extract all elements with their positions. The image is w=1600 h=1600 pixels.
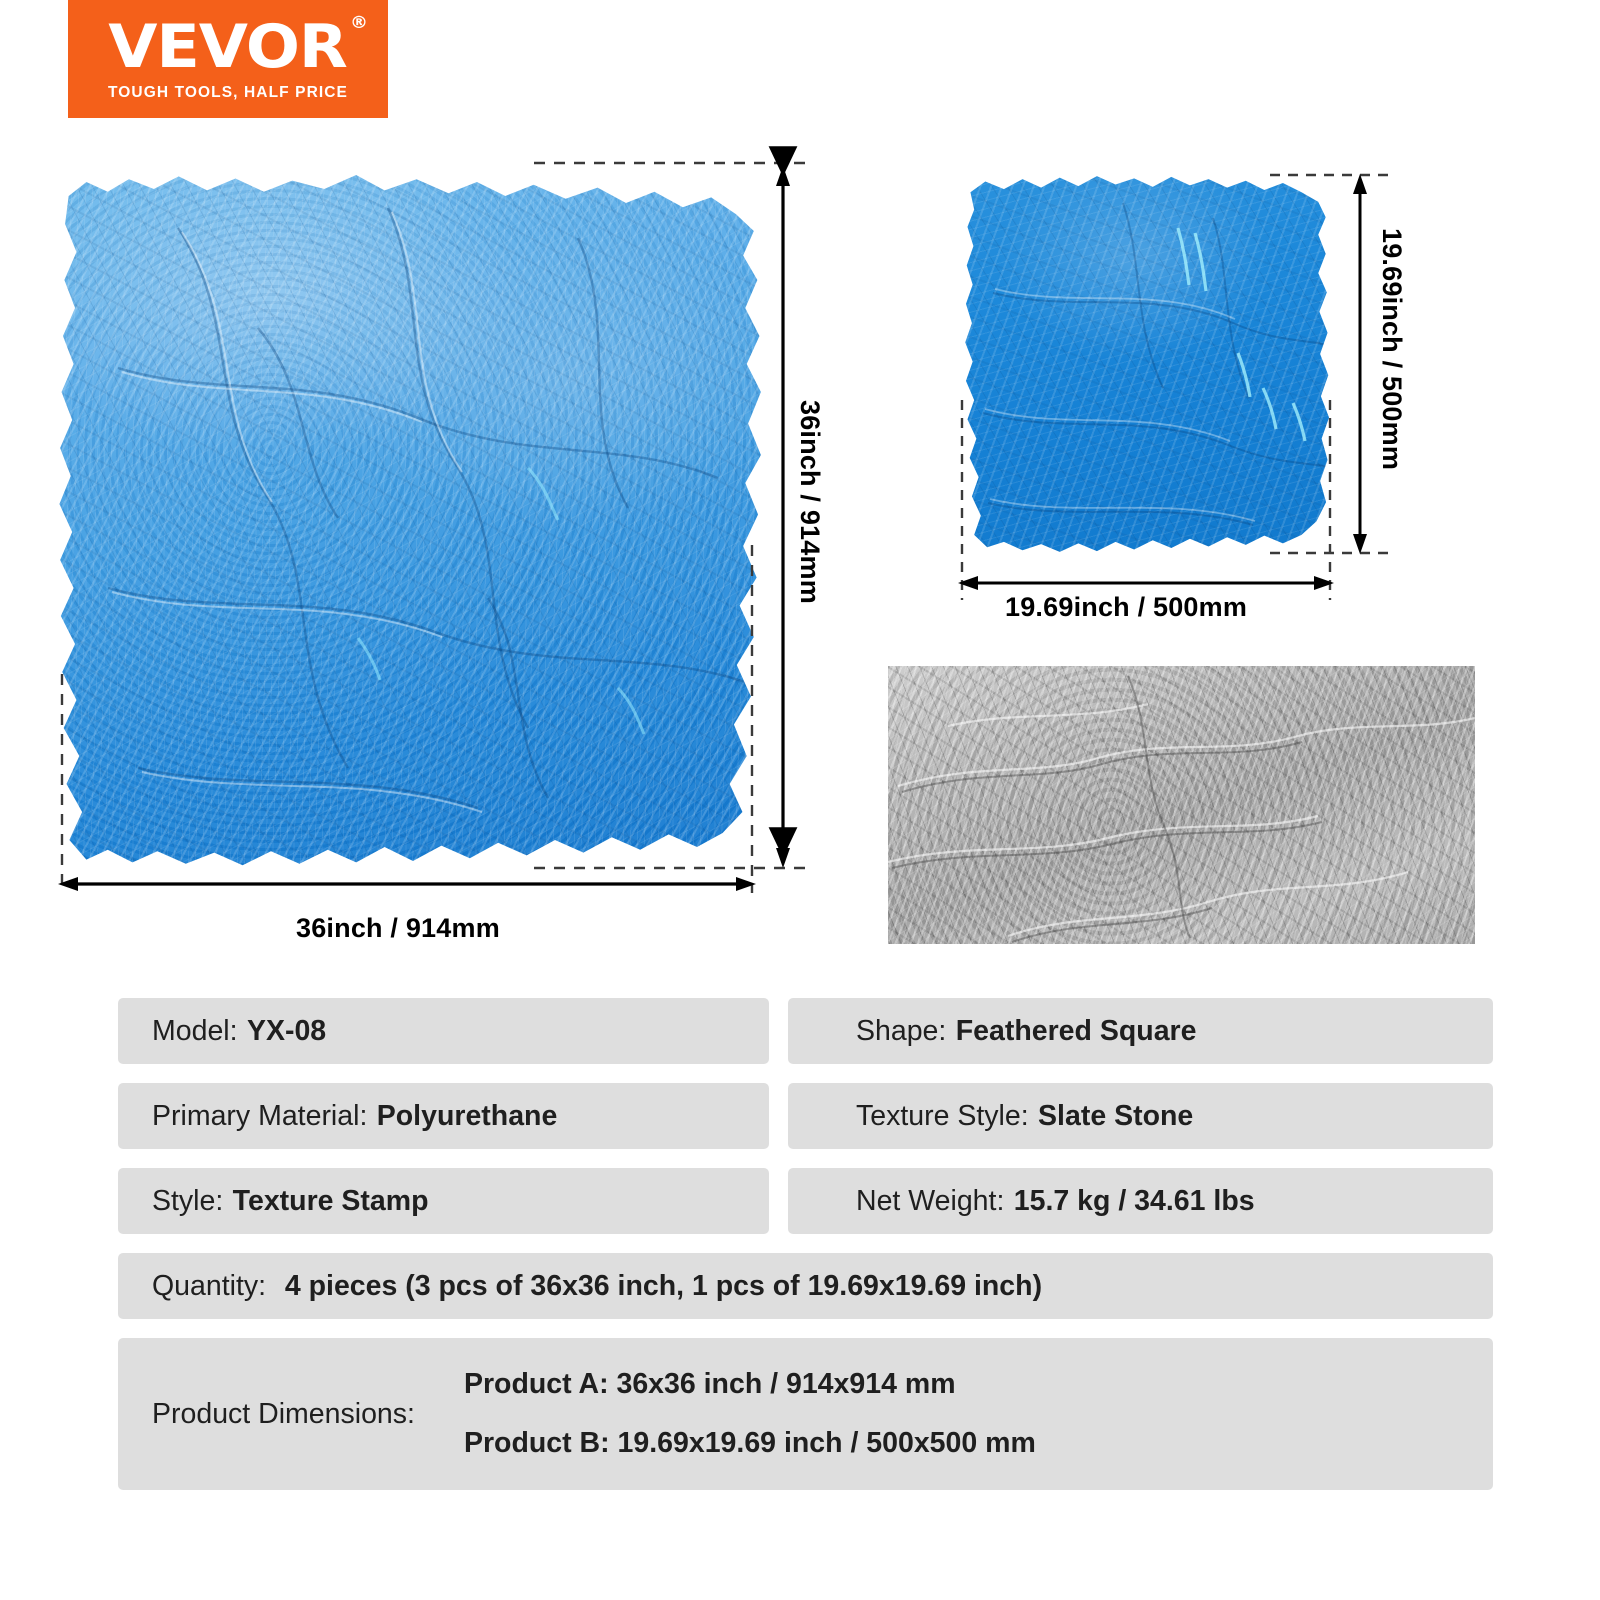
- spec-value: Slate Stone: [1038, 1100, 1193, 1133]
- product-b-dimension: Product B: 19.69x19.69 inch / 500x500 mm: [464, 1427, 1036, 1460]
- product-spec-sheet: VEVOR® TOUGH TOOLS, HALF PRICE: [0, 0, 1600, 1600]
- spec-row: Product Dimensions: Product A: 36x36 inc…: [118, 1338, 1493, 1490]
- dim-a-horizontal-arrowheads: [58, 877, 756, 891]
- product-a-image: [58, 168, 768, 868]
- spec-cell-quantity: Quantity: 4 pieces (3 pcs of 36x36 inch,…: [118, 1253, 1493, 1319]
- specifications-table: Model: YX-08 Shape: Feathered Square Pri…: [118, 998, 1493, 1509]
- spec-value: Feathered Square: [956, 1015, 1197, 1048]
- spec-row: Quantity: 4 pieces (3 pcs of 36x36 inch,…: [118, 1253, 1493, 1319]
- spec-value: YX-08: [247, 1015, 326, 1048]
- dim-a-height-label: 36inch / 914mm: [794, 400, 825, 604]
- spec-label: Style:: [152, 1185, 223, 1218]
- spec-label: Model:: [152, 1015, 238, 1048]
- spec-label: Product Dimensions:: [152, 1398, 415, 1431]
- spec-row: Primary Material: Polyurethane Texture S…: [118, 1083, 1493, 1149]
- spec-label: Primary Material:: [152, 1100, 367, 1133]
- spec-cell-net-weight: Net Weight: 15.7 kg / 34.61 lbs: [788, 1168, 1493, 1234]
- dim-b-height-label: 19.69inch / 500mm: [1376, 228, 1407, 470]
- spec-label: Net Weight:: [856, 1185, 1004, 1218]
- dim-b-vertical-arrowheads: [1353, 174, 1367, 554]
- spec-cell-style: Style: Texture Stamp: [118, 1168, 769, 1234]
- spec-value: Texture Stamp: [233, 1185, 429, 1218]
- spec-cell-product-dimensions: Product Dimensions: Product A: 36x36 inc…: [118, 1338, 1493, 1490]
- spec-cell-primary-material: Primary Material: Polyurethane: [118, 1083, 769, 1149]
- dim-a-width-label: 36inch / 914mm: [296, 913, 500, 944]
- dim-b-horizontal-arrowheads: [958, 576, 1334, 590]
- spec-value: Polyurethane: [377, 1100, 558, 1133]
- spec-label: Quantity:: [152, 1270, 266, 1303]
- spec-row: Style: Texture Stamp Net Weight: 15.7 kg…: [118, 1168, 1493, 1234]
- spec-cell-shape: Shape: Feathered Square: [788, 998, 1493, 1064]
- brand-tagline: TOUGH TOOLS, HALF PRICE: [108, 84, 348, 102]
- spec-row: Model: YX-08 Shape: Feathered Square: [118, 998, 1493, 1064]
- crack-lines-decoration: [58, 168, 768, 868]
- dim-b-width-label: 19.69inch / 500mm: [1005, 592, 1247, 623]
- spec-label: Texture Style:: [856, 1100, 1029, 1133]
- brand-name: VEVOR: [109, 12, 348, 82]
- spec-value: 15.7 kg / 34.61 lbs: [1014, 1185, 1255, 1218]
- spec-cell-model: Model: YX-08: [118, 998, 769, 1064]
- registered-trademark-icon: ®: [350, 15, 367, 32]
- crack-lines-decoration-small: [963, 173, 1335, 558]
- spec-cell-texture-style: Texture Style: Slate Stone: [788, 1083, 1493, 1149]
- product-b-image: [963, 173, 1335, 558]
- spec-value: 4 pieces (3 pcs of 36x36 inch, 1 pcs of …: [285, 1270, 1042, 1303]
- brand-wordmark: VEVOR®: [109, 17, 348, 77]
- slate-texture-swatch: [888, 666, 1475, 944]
- product-a-dimension: Product A: 36x36 inch / 914x914 mm: [464, 1368, 1036, 1401]
- vevor-logo: VEVOR® TOUGH TOOLS, HALF PRICE: [68, 0, 388, 118]
- dim-a-vertical-arrowheads: [776, 166, 790, 868]
- dimension-value-list: Product A: 36x36 inch / 914x914 mm Produ…: [464, 1368, 1036, 1460]
- spec-label: Shape:: [856, 1015, 946, 1048]
- slate-crack-lines: [888, 666, 1475, 944]
